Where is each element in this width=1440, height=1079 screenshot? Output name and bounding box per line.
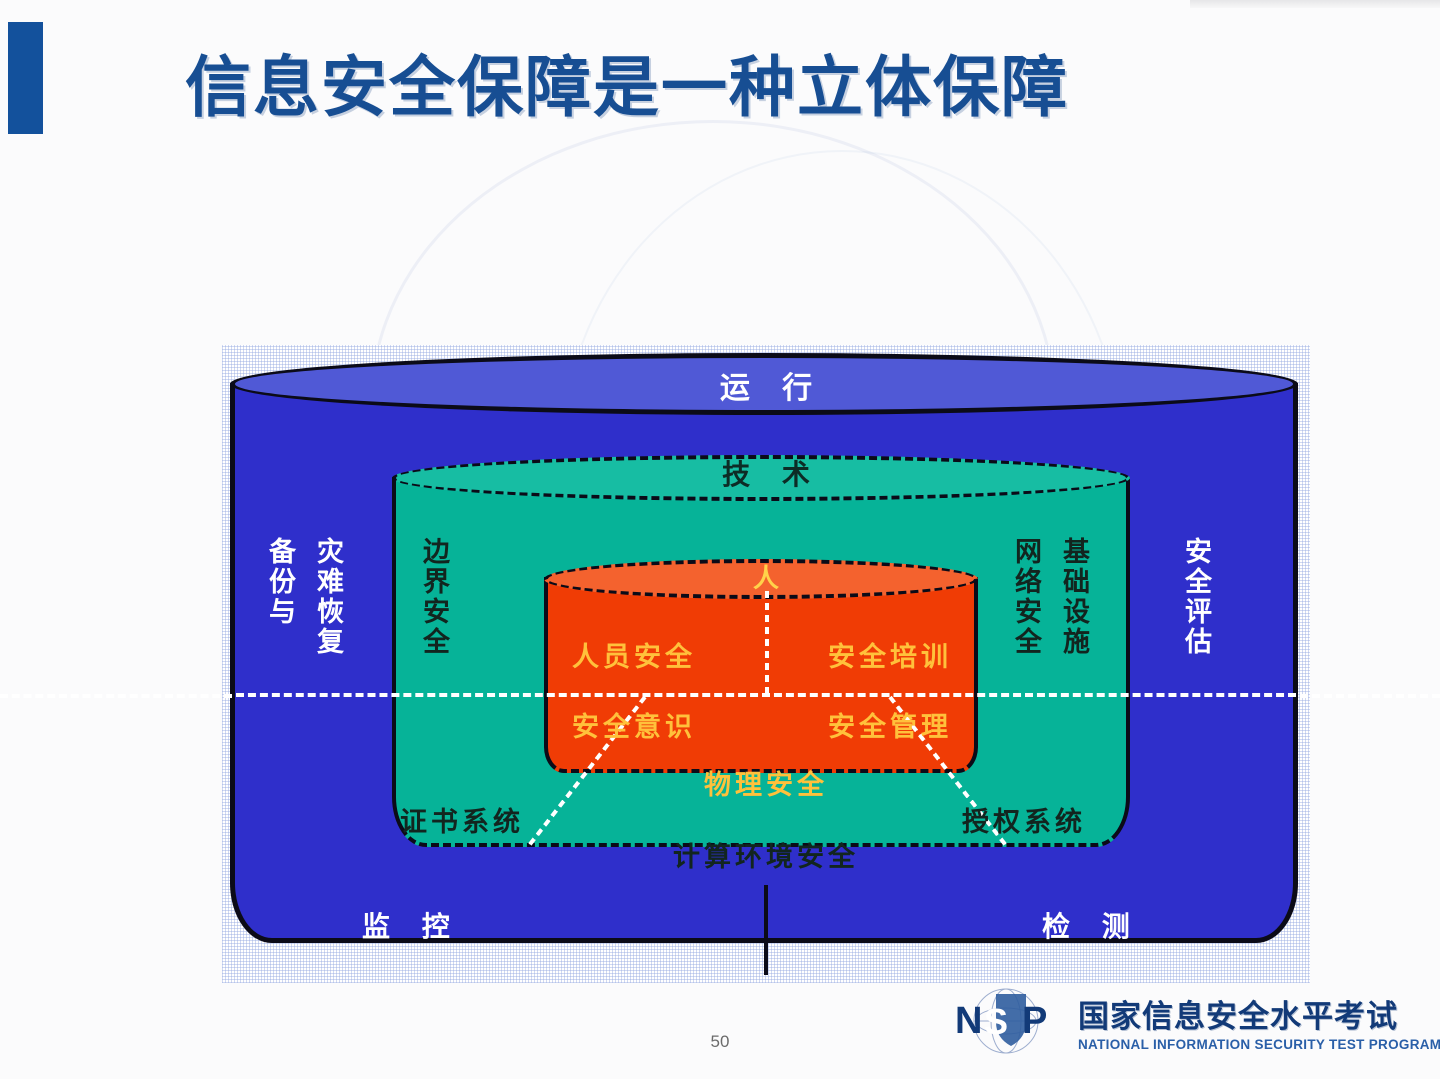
label-detection: 检 测 (1042, 905, 1142, 945)
bottom-vertical-divider (764, 885, 768, 975)
label-operations: 运 行 (222, 363, 1310, 407)
label-certificate-system: 证书系统 (400, 800, 524, 839)
label-security-training: 安全培训 (800, 635, 980, 674)
label-security-assessment: 安全评估 (1182, 537, 1209, 657)
label-infrastructure: 基础设施 (1060, 537, 1087, 657)
nsp-logo-chinese: 国家信息安全水平考试 (1078, 991, 1440, 1036)
horizontal-dashed-separator (236, 693, 1296, 697)
label-authorization-system: 授权系统 (962, 800, 1086, 839)
nsp-shield-globe-icon: N S P (950, 988, 1068, 1054)
separator-extension-right (1300, 694, 1440, 698)
svg-text:S: S (984, 1001, 1008, 1042)
label-monitoring: 监 控 (362, 905, 462, 945)
nsp-logo: N S P 国家信息安全水平考试 NATIONAL INFORMATION SE… (950, 988, 1440, 1054)
page-title: 信息安全保障是一种立体保障 (185, 34, 1069, 130)
layered-security-diagram: 运 行 备份与 灾难恢复 安全评估 监 控 检 测 技 术 边界安全 网络安全 … (222, 345, 1310, 983)
label-people: 人 (222, 558, 1310, 595)
label-technology: 技 术 (222, 453, 1310, 493)
label-security-awareness: 安全意识 (544, 705, 724, 744)
title-accent-bar (8, 22, 43, 134)
label-security-management: 安全管理 (800, 705, 980, 744)
radial-spoke-up (765, 591, 769, 699)
label-physical-security: 物理安全 (222, 763, 1310, 802)
label-disaster-recovery: 灾难恢复 (314, 537, 341, 657)
svg-text:N: N (955, 1000, 982, 1042)
svg-text:P: P (1022, 1000, 1047, 1042)
label-network-security: 网络安全 (1012, 537, 1039, 657)
nsp-logo-english: NATIONAL INFORMATION SECURITY TEST PROGR… (1078, 1037, 1440, 1052)
label-boundary-security: 边界安全 (420, 537, 447, 657)
top-right-edge-decoration (1190, 0, 1440, 8)
nsp-logo-text: 国家信息安全水平考试 NATIONAL INFORMATION SECURITY… (1078, 991, 1440, 1052)
label-personnel-security: 人员安全 (544, 635, 724, 674)
separator-extension-left (0, 694, 232, 698)
label-computing-environment-security: 计算环境安全 (222, 835, 1310, 874)
